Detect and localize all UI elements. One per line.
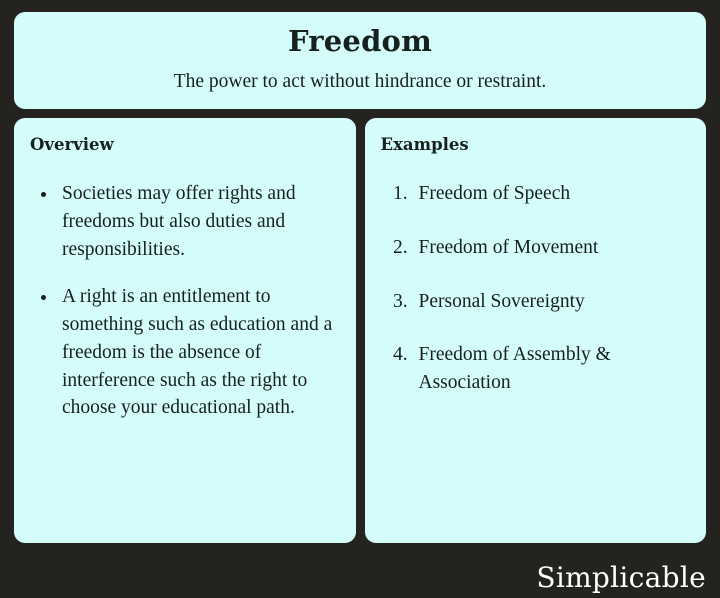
examples-card: Examples Freedom of Speech Freedom of Mo… [365,118,707,543]
examples-heading: Examples [381,136,689,154]
overview-bullet-list: Societies may offer rights and freedoms … [30,180,338,422]
page-subtitle: The power to act without hindrance or re… [34,70,686,93]
list-item: A right is an entitlement to something s… [58,283,338,421]
list-item: Societies may offer rights and freedoms … [58,180,338,263]
overview-heading: Overview [30,136,338,154]
brand-wordmark: Simplicable [536,563,706,594]
page-title: Freedom [34,26,686,58]
list-item: Freedom of Speech [413,180,689,208]
examples-numbered-list: Freedom of Speech Freedom of Movement Pe… [381,180,689,396]
list-item: Freedom of Assembly & Association [413,341,689,396]
content-columns: Overview Societies may offer rights and … [14,118,706,543]
overview-card: Overview Societies may offer rights and … [14,118,356,543]
infographic-poster: Freedom The power to act without hindran… [0,0,720,598]
list-item: Personal Sovereignty [413,288,689,316]
header-card: Freedom The power to act without hindran… [14,12,706,109]
list-item: Freedom of Movement [413,234,689,262]
